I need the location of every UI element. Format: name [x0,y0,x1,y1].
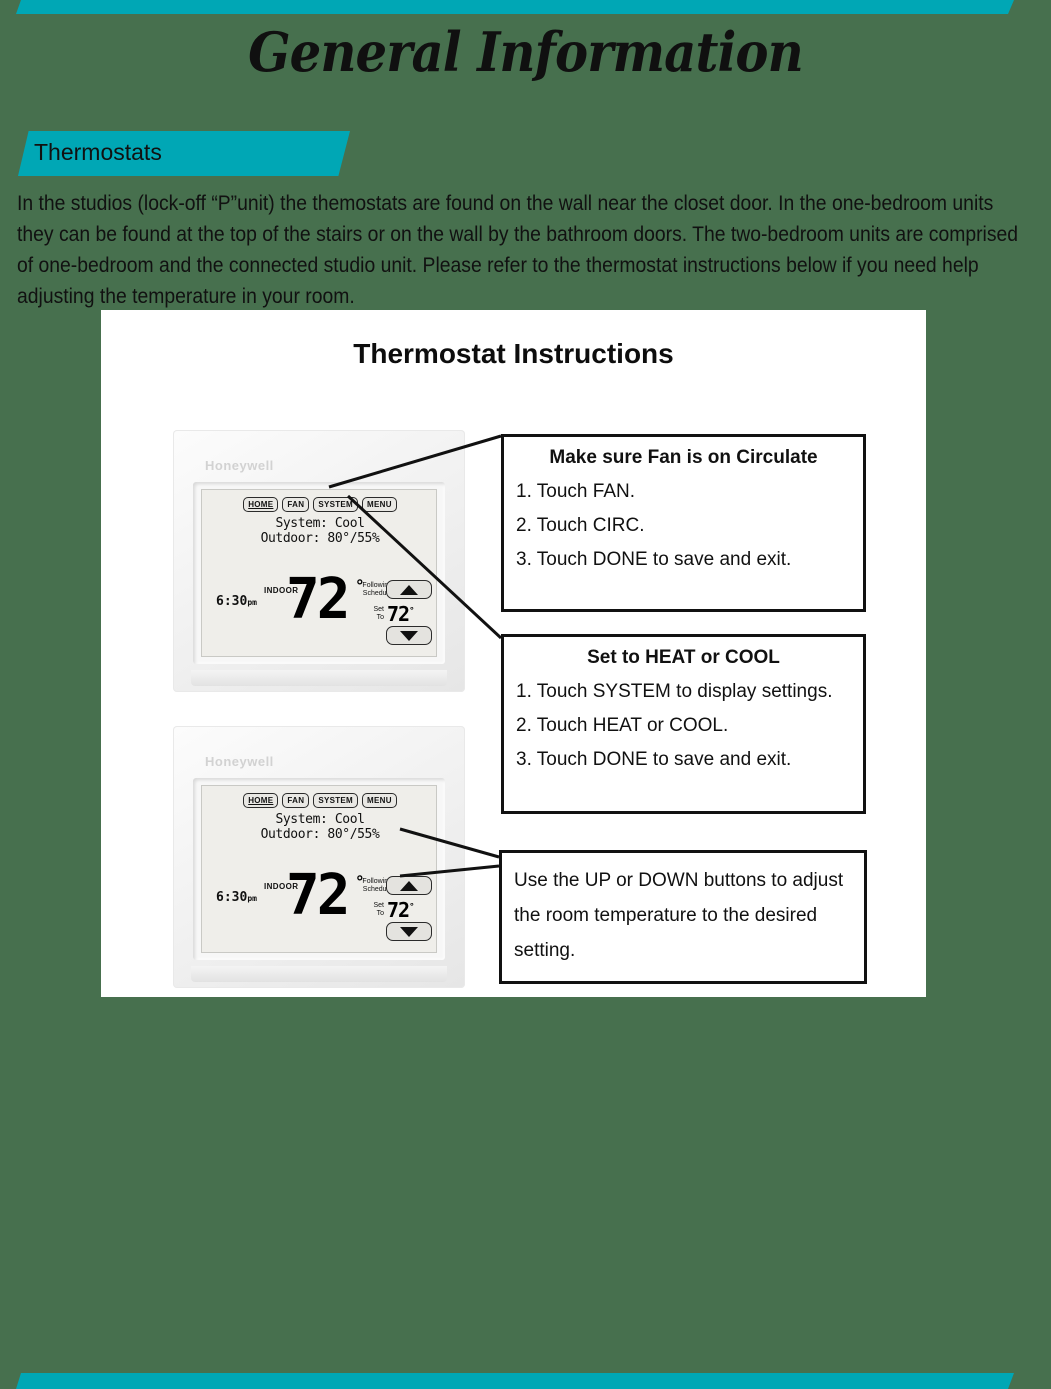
lcd-button-home[interactable]: HOME [243,497,278,512]
lcd-setto-line2: To [362,910,384,918]
thermostat-device-top: Honeywell HOME FAN SYSTEM MENU System: C… [173,430,465,692]
card-title: Thermostat Instructions [101,338,926,370]
thermostat-lcd-screen: HOME FAN SYSTEM MENU System: Cool Outdoo… [201,785,437,953]
lcd-time-suffix: pm [247,598,257,607]
callout-step: 1. Touch FAN. [516,481,851,503]
lcd-time: 6:30pm [216,890,257,905]
instructions-card: Thermostat Instructions Honeywell HOME F… [101,310,926,997]
triangle-up-icon [400,881,418,891]
lcd-button-system[interactable]: SYSTEM [313,497,358,512]
thermostat-base-trim [191,670,447,686]
callout-box-up-down: Use the UP or DOWN buttons to adjust the… [499,850,867,984]
callout-heading: Make sure Fan is on Circulate [516,447,851,469]
callout-step: 3. Touch DONE to save and exit. [516,749,851,771]
lcd-button-menu[interactable]: MENU [362,793,397,808]
callout-step: 3. Touch DONE to save and exit. [516,549,851,571]
thermostat-lcd-screen: HOME FAN SYSTEM MENU System: Cool Outdoo… [201,489,437,657]
honeywell-logo: Honeywell [205,754,274,769]
lcd-setto-line1: Set [362,606,384,614]
lcd-set-degree-symbol: ° [409,606,413,616]
triangle-down-icon [400,631,418,641]
thermostat-base-trim [191,966,447,982]
lcd-status-block: System: Cool Outdoor: 80°/55% [202,812,438,842]
lcd-set-temp-value: 72 [387,898,409,922]
bottom-accent-bar [16,1373,1014,1389]
thermostat-bezel: HOME FAN SYSTEM MENU System: Cool Outdoo… [193,482,445,664]
lcd-button-fan[interactable]: FAN [282,793,309,808]
callout-box-fan-circulate: Make sure Fan is on Circulate 1. Touch F… [501,434,866,612]
lcd-setto-label: Set To [362,606,384,622]
callout-heading: Set to HEAT or COOL [516,647,851,669]
lcd-time-value: 6:30 [216,594,247,609]
section-tab-label: Thermostats [34,139,162,166]
page-title: General Information [42,20,1009,84]
triangle-up-icon [400,585,418,595]
lcd-time-suffix: pm [247,894,257,903]
lcd-indoor-temperature: 72 [286,572,347,628]
top-accent-bar [16,0,1014,14]
lcd-setto-line1: Set [362,902,384,910]
section-body-text: In the studios (lock-off “P”unit) the th… [17,188,1030,312]
lcd-down-button[interactable] [386,922,432,941]
lcd-button-row: HOME FAN SYSTEM MENU [202,497,438,512]
lcd-button-system[interactable]: SYSTEM [313,793,358,808]
callout-step: 2. Touch HEAT or COOL. [516,715,851,737]
lcd-outdoor-line: Outdoor: 80°/55% [202,827,438,842]
lcd-button-fan[interactable]: FAN [282,497,309,512]
lcd-time-value: 6:30 [216,890,247,905]
callout-step: 1. Touch SYSTEM to display settings. [516,681,851,703]
lcd-up-button[interactable] [386,580,432,599]
triangle-down-icon [400,927,418,937]
lcd-indoor-temperature: 72 [286,868,347,924]
lcd-status-block: System: Cool Outdoor: 80°/55% [202,516,438,546]
lcd-button-menu[interactable]: MENU [362,497,397,512]
lcd-down-button[interactable] [386,626,432,645]
lcd-set-degree-symbol: ° [409,902,413,912]
lcd-up-button[interactable] [386,876,432,895]
lcd-set-temperature: 72° [387,602,414,626]
callout-step: 2. Touch CIRC. [516,515,851,537]
page-root: General Information Thermostats In the s… [0,0,1051,1389]
lcd-outdoor-line: Outdoor: 80°/55% [202,531,438,546]
lcd-system-line: System: Cool [202,516,438,531]
honeywell-logo: Honeywell [205,458,274,473]
lcd-button-home[interactable]: HOME [243,793,278,808]
lcd-time: 6:30pm [216,594,257,609]
lcd-set-temp-value: 72 [387,602,409,626]
lcd-system-line: System: Cool [202,812,438,827]
callout-box-heat-cool: Set to HEAT or COOL 1. Touch SYSTEM to d… [501,634,866,814]
lcd-setto-line2: To [362,614,384,622]
callout-paragraph: Use the UP or DOWN buttons to adjust the… [514,863,852,968]
lcd-button-row: HOME FAN SYSTEM MENU [202,793,438,808]
thermostat-device-bottom: Honeywell HOME FAN SYSTEM MENU System: C… [173,726,465,988]
lcd-set-temperature: 72° [387,898,414,922]
lcd-setto-label: Set To [362,902,384,918]
thermostat-bezel: HOME FAN SYSTEM MENU System: Cool Outdoo… [193,778,445,960]
